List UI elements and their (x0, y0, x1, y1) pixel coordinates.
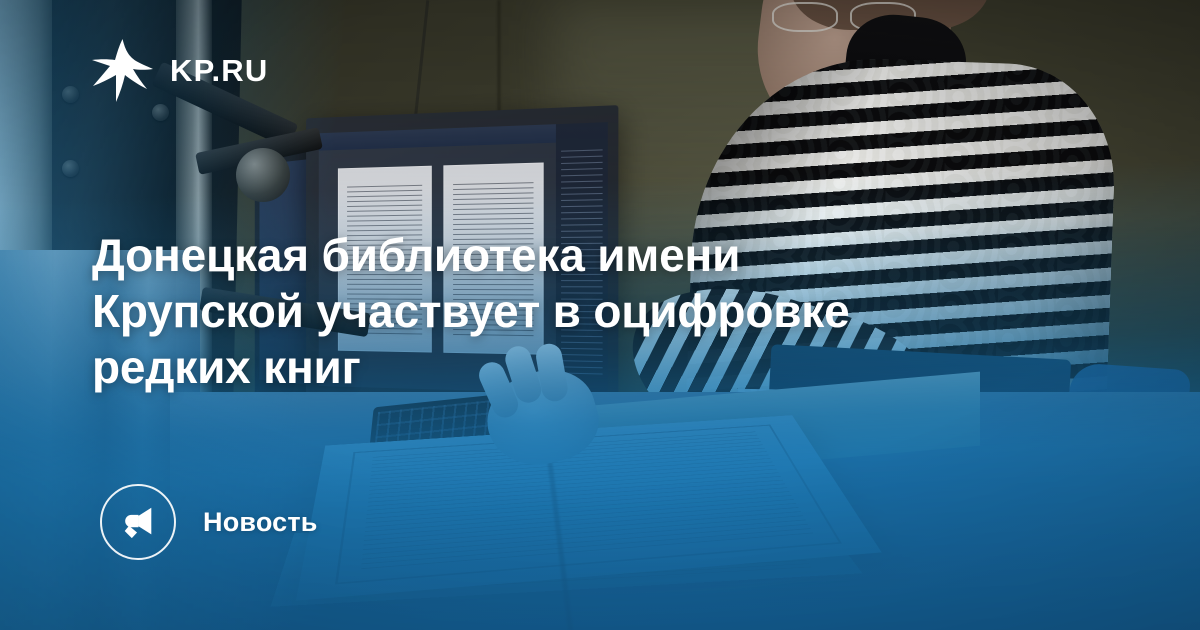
megaphone-icon (119, 503, 157, 541)
card-content: KP.RU Донецкая библиотека имени Крупской… (0, 0, 1200, 630)
page-title: Донецкая библиотека имени Крупской участ… (92, 227, 1044, 395)
status-badge[interactable]: Новость (100, 484, 318, 560)
brand-name: KP.RU (170, 55, 268, 86)
social-share-card: KP.RU Донецкая библиотека имени Крупской… (0, 0, 1200, 630)
swallow-bird-icon (92, 36, 154, 104)
brand-logo[interactable]: KP.RU (92, 36, 268, 104)
badge-icon-circle (100, 484, 176, 560)
badge-label: Новость (203, 507, 318, 538)
